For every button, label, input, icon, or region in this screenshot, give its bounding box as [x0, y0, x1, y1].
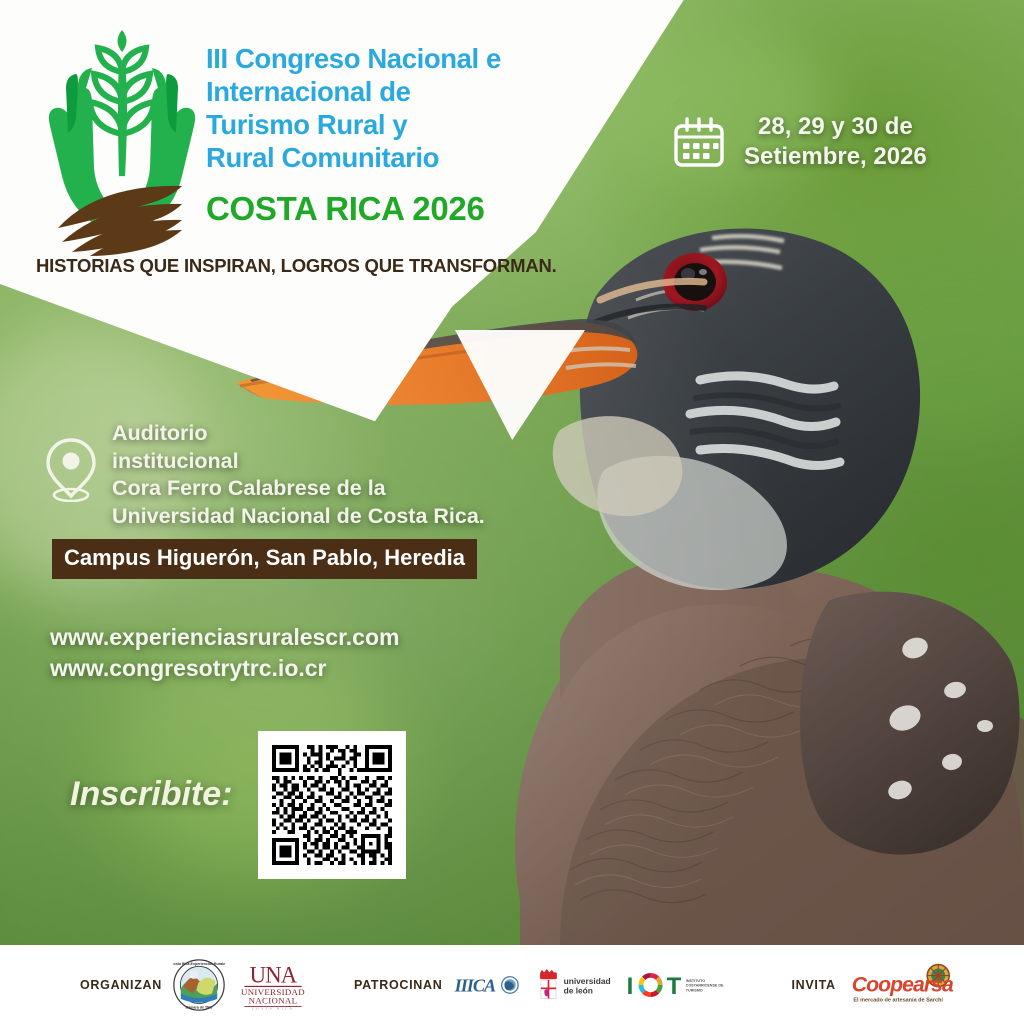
- website-link-2[interactable]: www.congresotrytrc.io.cr: [50, 653, 399, 684]
- venue-block: Auditorio institucional Cora Ferro Calab…: [44, 420, 485, 530]
- title-line-4: Rural Comunitario: [206, 141, 556, 174]
- patrocinan-label: PATROCINAN: [354, 978, 442, 992]
- svg-text:I: I: [627, 972, 633, 999]
- svg-text:NACIONAL: NACIONAL: [249, 995, 298, 1005]
- event-poster: III Congreso Nacional e Internacional de…: [0, 0, 1024, 1024]
- campus-badge: Campus Higuerón, San Pablo, Heredia: [52, 539, 477, 579]
- venue-text: Auditorio institucional Cora Ferro Calab…: [112, 420, 485, 530]
- subtitle-costa-rica-2026: COSTA RICA 2026: [206, 190, 556, 228]
- calendar-icon: [672, 115, 726, 169]
- date-text: 28, 29 y 30 de Setiembre, 2026: [744, 112, 927, 172]
- venue-line-4: Universidad Nacional de Costa Rica.: [112, 503, 485, 531]
- svg-text:INSTITUTO: INSTITUTO: [686, 978, 705, 982]
- title-block: III Congreso Nacional e Internacional de…: [206, 42, 556, 228]
- date-line-1: 28, 29 y 30 de: [744, 112, 927, 142]
- registration-qr-code[interactable]: [258, 731, 406, 879]
- coopearsa-logo: Coopearsa El mercado de artesanía de Sar…: [847, 963, 965, 1007]
- svg-text:de león: de león: [564, 985, 593, 995]
- invita-label: INVITA: [791, 978, 835, 992]
- venue-line-1: Auditorio: [112, 420, 485, 448]
- cr-experiencias-rurales-logo: Costa Rica Experiencias Rurales Cámara d…: [173, 959, 225, 1011]
- website-links: www.experienciasruralescr.com www.congre…: [50, 622, 399, 684]
- venue-line-3: Cora Ferro Calabrese de la: [112, 475, 485, 503]
- sponsors-footer: ORGANIZAN Costa Rica Experiencias Rurale…: [0, 945, 1024, 1024]
- qr-code-graphic: [268, 741, 396, 869]
- organizan-label: ORGANIZAN: [80, 978, 162, 992]
- register-label: Inscribite:: [70, 775, 232, 814]
- venue-line-2: institucional: [112, 448, 485, 476]
- svg-text:TURISMO: TURISMO: [686, 988, 703, 992]
- svg-text:El mercado de artesanía de Sar: El mercado de artesanía de Sarchí: [853, 997, 943, 1003]
- svg-text:IIICA: IIICA: [454, 975, 496, 995]
- svg-text:T: T: [667, 972, 682, 999]
- tagline: HISTORIAS QUE INSPIRAN, LOGROS QUE TRANS…: [36, 255, 557, 277]
- svg-text:Cámara de TRC: Cámara de TRC: [186, 1005, 213, 1009]
- title-line-2: Internacional de: [206, 75, 556, 108]
- svg-text:Coopearsa: Coopearsa: [852, 973, 954, 996]
- date-line-2: Setiembre, 2026: [744, 142, 927, 172]
- location-pin-icon: [44, 436, 98, 502]
- svg-text:COSTA RICA: COSTA RICA: [252, 1006, 294, 1010]
- hands-plant-soil-logo: [34, 28, 210, 256]
- organizers-group: ORGANIZAN Costa Rica Experiencias Rurale…: [80, 959, 310, 1011]
- una-logo: UNA UNIVERSIDAD NACIONAL COSTA RICA: [236, 960, 310, 1010]
- iica-logo: IIICA: [453, 971, 519, 999]
- website-link-1[interactable]: www.experienciasruralescr.com: [50, 622, 399, 653]
- svg-text:UNA: UNA: [250, 962, 298, 987]
- inviters-group: INVITA Coopearsa El mercado de artesanía…: [791, 963, 964, 1007]
- svg-text:Costa Rica Experiencias Rurale: Costa Rica Experiencias Rurales: [173, 962, 225, 966]
- date-block: 28, 29 y 30 de Setiembre, 2026: [672, 112, 927, 172]
- ict-logo: I T INSTITUTO: [625, 968, 737, 1002]
- title-line-3: Turismo Rural y: [206, 108, 556, 141]
- sponsors-group: PATROCINAN IIICA universidad de león I: [354, 967, 737, 1003]
- title-line-1: III Congreso Nacional e: [206, 42, 556, 75]
- universidad-de-leon-logo: universidad de león: [530, 967, 614, 1003]
- svg-text:COSTARRICENSE DE: COSTARRICENSE DE: [686, 983, 724, 987]
